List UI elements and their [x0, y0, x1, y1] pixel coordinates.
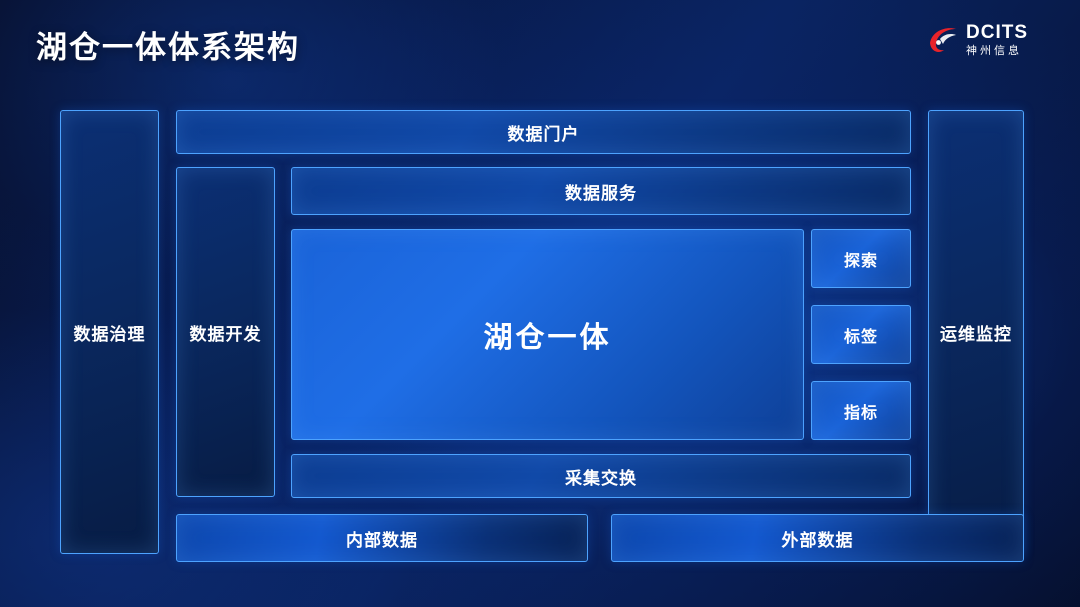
- dcits-logo: DCITS 神州信息: [926, 17, 1058, 63]
- logo-text-cn: 神州信息: [966, 46, 1028, 57]
- block-lakehouse-core[interactable]: 湖仓一体: [291, 229, 804, 440]
- block-explore[interactable]: 探索: [811, 229, 911, 288]
- page-title: 湖仓一体体系架构: [36, 22, 300, 67]
- block-data-development[interactable]: 数据开发: [176, 167, 275, 497]
- block-external-data[interactable]: 外部数据: [611, 514, 1024, 562]
- slide-canvas: 湖仓一体体系架构 DCITS 神州信息 数据治理 运维监控 数据门户 数据开发 …: [0, 0, 1080, 607]
- block-collection-exchange[interactable]: 采集交换: [291, 454, 911, 498]
- logo-text-en: DCITS: [966, 23, 1028, 42]
- block-data-portal[interactable]: 数据门户: [176, 110, 911, 154]
- block-ops-monitoring[interactable]: 运维监控: [928, 110, 1024, 554]
- swoosh-icon: [926, 23, 960, 57]
- block-data-service[interactable]: 数据服务: [291, 167, 911, 215]
- block-tag[interactable]: 标签: [811, 305, 911, 364]
- block-metric[interactable]: 指标: [811, 381, 911, 440]
- block-data-governance[interactable]: 数据治理: [60, 110, 159, 554]
- block-internal-data[interactable]: 内部数据: [176, 514, 588, 562]
